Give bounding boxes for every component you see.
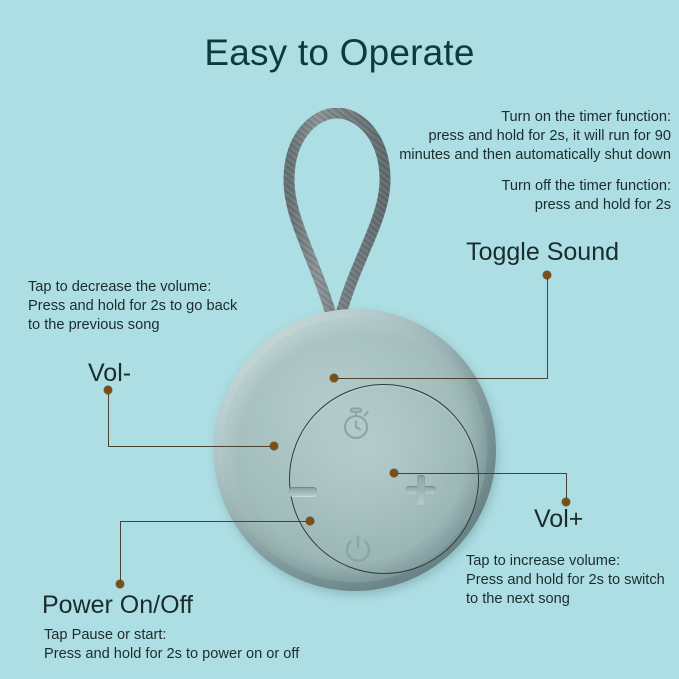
leader-dot-plus-button (390, 469, 398, 477)
timer-off-line-1: Turn off the timer function: (231, 177, 671, 196)
leader-dot-timer-button (330, 374, 338, 382)
leader-toggle-sound-vertical (547, 279, 548, 378)
volume-down-line-1: Tap to decrease the volume: (28, 278, 328, 297)
timer-on-description: Turn on the timer function: press and ho… (231, 108, 671, 166)
power-description: Tap Pause or start: Press and hold for 2… (44, 626, 374, 664)
speaker-face (242, 337, 468, 563)
leader-volume-up-horizontal (396, 473, 566, 474)
leader-power-horizontal (120, 521, 310, 522)
timer-icon[interactable] (340, 407, 372, 441)
volume-down-description: Tap to decrease the volume: Press and ho… (28, 278, 328, 336)
leader-volume-down-horizontal (108, 446, 274, 447)
page-title: Easy to Operate (0, 30, 679, 76)
volume-up-line-2: Press and hold for 2s to switch (466, 571, 679, 590)
volume-down-line-3: to the previous song (28, 316, 328, 335)
minus-icon[interactable] (289, 487, 317, 496)
leader-dot-minus-button (270, 442, 278, 450)
timer-on-line-1: Turn on the timer function: (231, 108, 671, 127)
volume-up-line-1: Tap to increase volume: (466, 552, 679, 571)
timer-off-line-2: press and hold for 2s (231, 196, 671, 215)
timer-off-description: Turn off the timer function: press and h… (231, 177, 671, 215)
volume-up-line-3: to the next song (466, 590, 679, 609)
product-annotation-scene: Easy to Operate (0, 0, 679, 679)
leader-volume-down-vertical (108, 394, 109, 446)
leader-dot-toggle-sound-label (543, 271, 551, 279)
power-line-1: Tap Pause or start: (44, 626, 374, 645)
speaker-device (214, 309, 496, 591)
leader-volume-up-vertical (566, 473, 567, 501)
power-icon[interactable] (343, 534, 373, 564)
timer-on-line-2: press and hold for 2s, it will run for 9… (231, 127, 671, 146)
leader-dot-power-button (306, 517, 314, 525)
leader-dot-power-label (116, 580, 124, 588)
volume-down-line-2: Press and hold for 2s to go back (28, 297, 328, 316)
timer-on-line-3: minutes and then automatically shut down (231, 146, 671, 165)
control-ring (289, 384, 479, 574)
power-line-2: Press and hold for 2s to power on or off (44, 645, 374, 664)
volume-down-label: Vol- (88, 358, 131, 388)
leader-power-vertical (120, 521, 121, 583)
leader-toggle-sound-horizontal (334, 378, 548, 379)
volume-up-description: Tap to increase volume: Press and hold f… (466, 552, 679, 610)
toggle-sound-label: Toggle Sound (466, 237, 619, 267)
plus-icon[interactable] (406, 475, 436, 505)
power-label: Power On/Off (42, 590, 193, 620)
volume-up-label: Vol+ (534, 504, 583, 534)
